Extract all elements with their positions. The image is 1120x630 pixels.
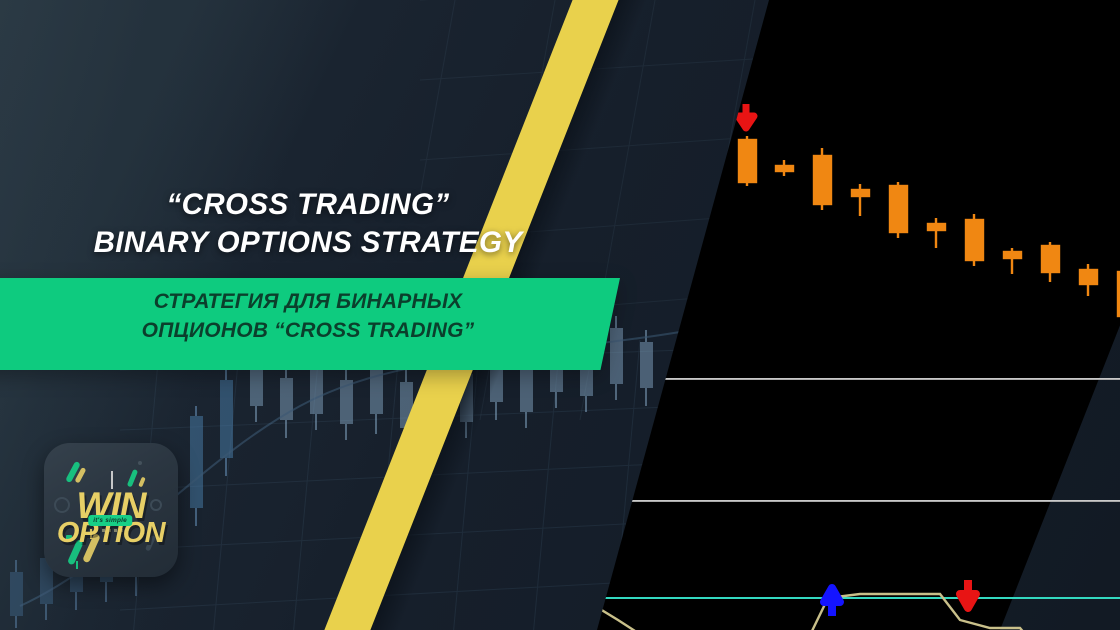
poster-canvas: “CROSS TRADING” BINARY OPTIONS STRATEGY … (0, 0, 1120, 630)
subtitle-text: СТРАТЕГИЯ ДЛЯ БИНАРНЫХ ОПЦИОНОВ “CROSS T… (0, 288, 616, 346)
oscillator-sell-arrow-icon (960, 580, 976, 608)
title-line-2: BINARY OPTIONS STRATEGY (0, 224, 616, 262)
oscillator-series-line (560, 510, 1120, 630)
subtitle-line-2: ОПЦИОНОВ “CROSS TRADING” (0, 317, 616, 346)
oscillator-buy-arrow-icon (824, 588, 840, 616)
sell-arrow-icon (738, 104, 754, 128)
page-title: “CROSS TRADING” BINARY OPTIONS STRATEGY (0, 186, 616, 263)
subtitle-line-1: СТРАТЕГИЯ ДЛЯ БИНАРНЫХ (0, 288, 616, 317)
brand-logo[interactable]: WIN OPTION it's simple (44, 443, 178, 577)
title-line-1: “CROSS TRADING” (0, 186, 616, 224)
oscillator-chart (560, 502, 1120, 630)
logo-badge: it's simple (88, 515, 132, 526)
